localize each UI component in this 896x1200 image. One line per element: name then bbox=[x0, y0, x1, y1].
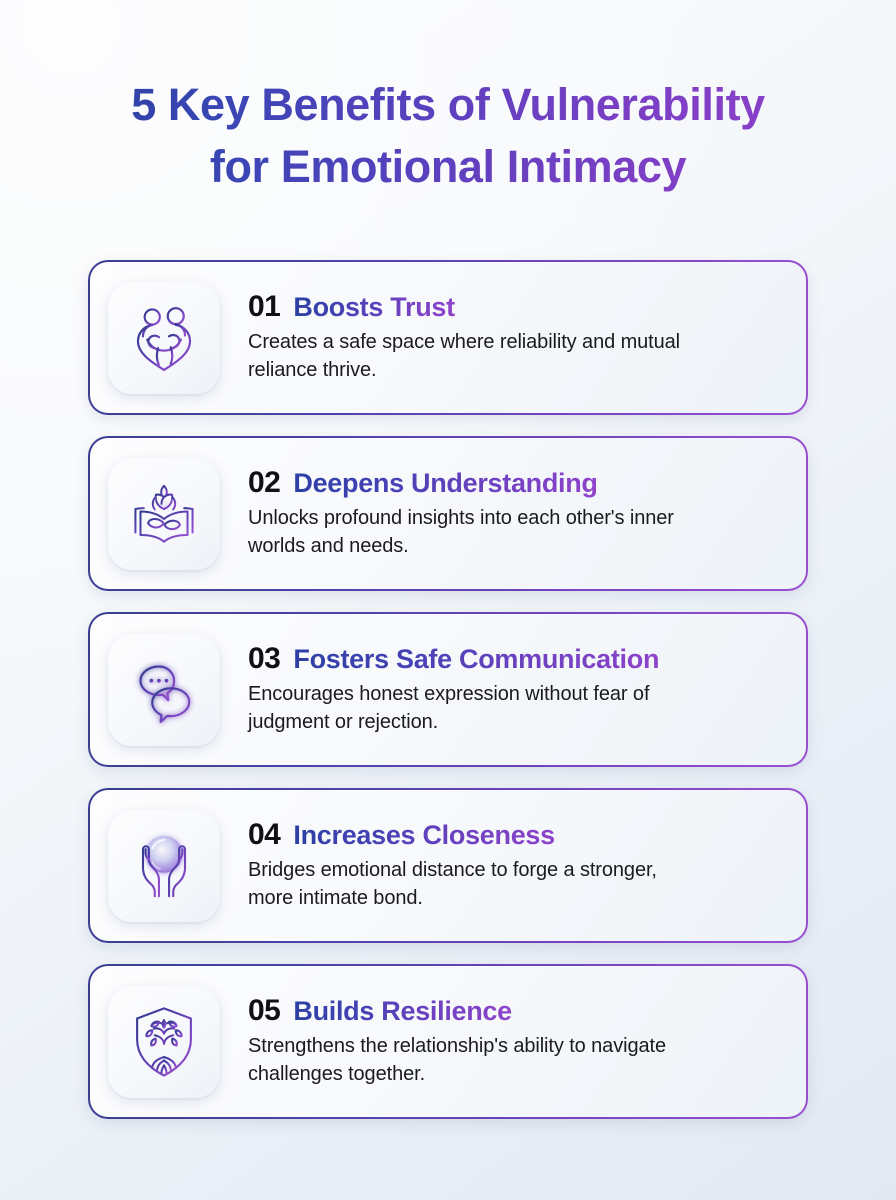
benefit-card-5-inner: 05 Builds Resilience Strengthens the rel… bbox=[90, 966, 806, 1117]
benefit-card-1[interactable]: 01 Boosts Trust Creates a safe space whe… bbox=[88, 260, 808, 415]
page-title-line-2: for Emotional Intimacy bbox=[40, 136, 856, 198]
benefit-number-4: 04 bbox=[248, 819, 280, 851]
two-people-heart-icon bbox=[122, 296, 206, 380]
benefit-card-1-inner: 01 Boosts Trust Creates a safe space whe… bbox=[90, 262, 806, 413]
benefit-card-4-inner: 04 Increases Closeness Bridges emotional… bbox=[90, 790, 806, 941]
infographic-page: 5 Key Benefits of Vulnerability for Emot… bbox=[0, 0, 896, 1200]
icon-tile-1 bbox=[108, 282, 220, 394]
benefit-title-2: Deepens Understanding bbox=[293, 468, 597, 498]
hands-holding-orb-icon bbox=[122, 824, 206, 908]
shield-tree-icon bbox=[122, 1000, 206, 1084]
benefit-card-5-text: 05 Builds Resilience Strengthens the rel… bbox=[220, 995, 806, 1088]
benefit-number-5: 05 bbox=[248, 995, 280, 1027]
benefit-card-4-text: 04 Increases Closeness Bridges emotional… bbox=[220, 819, 806, 912]
page-title-line-1: 5 Key Benefits of Vulnerability bbox=[40, 74, 856, 136]
benefit-description-3: Encourages honest expression without fea… bbox=[248, 680, 703, 736]
open-book-flower-icon bbox=[122, 472, 206, 556]
benefit-title-3: Fosters Safe Communication bbox=[293, 644, 659, 674]
benefit-card-1-text: 01 Boosts Trust Creates a safe space whe… bbox=[220, 291, 806, 384]
benefit-card-5[interactable]: 05 Builds Resilience Strengthens the rel… bbox=[88, 964, 808, 1119]
benefits-list: 01 Boosts Trust Creates a safe space whe… bbox=[88, 260, 808, 1140]
benefit-card-2-heading: 02 Deepens Understanding bbox=[248, 467, 784, 499]
benefit-card-3-text: 03 Fosters Safe Communication Encourages… bbox=[220, 643, 806, 736]
benefit-card-1-heading: 01 Boosts Trust bbox=[248, 291, 784, 323]
benefit-number-3: 03 bbox=[248, 643, 280, 675]
benefit-card-3[interactable]: 03 Fosters Safe Communication Encourages… bbox=[88, 612, 808, 767]
benefit-title-5: Builds Resilience bbox=[293, 996, 511, 1026]
benefit-description-5: Strengthens the relationship's ability t… bbox=[248, 1032, 703, 1088]
benefit-card-2-inner: 02 Deepens Understanding Unlocks profoun… bbox=[90, 438, 806, 589]
benefit-title-1: Boosts Trust bbox=[293, 292, 454, 322]
icon-tile-2 bbox=[108, 458, 220, 570]
benefit-card-4-heading: 04 Increases Closeness bbox=[248, 819, 784, 851]
page-title: 5 Key Benefits of Vulnerability for Emot… bbox=[0, 74, 896, 198]
benefit-card-2-text: 02 Deepens Understanding Unlocks profoun… bbox=[220, 467, 806, 560]
benefit-card-3-inner: 03 Fosters Safe Communication Encourages… bbox=[90, 614, 806, 765]
benefit-title-4: Increases Closeness bbox=[293, 820, 554, 850]
benefit-card-4[interactable]: 04 Increases Closeness Bridges emotional… bbox=[88, 788, 808, 943]
benefit-card-2[interactable]: 02 Deepens Understanding Unlocks profoun… bbox=[88, 436, 808, 591]
benefit-description-4: Bridges emotional distance to forge a st… bbox=[248, 856, 703, 912]
benefit-card-3-heading: 03 Fosters Safe Communication bbox=[248, 643, 784, 675]
icon-tile-5 bbox=[108, 986, 220, 1098]
speech-bubbles-icon bbox=[122, 648, 206, 732]
benefit-card-5-heading: 05 Builds Resilience bbox=[248, 995, 784, 1027]
benefit-description-1: Creates a safe space where reliability a… bbox=[248, 328, 703, 384]
benefit-number-2: 02 bbox=[248, 467, 280, 499]
benefit-number-1: 01 bbox=[248, 291, 280, 323]
benefit-description-2: Unlocks profound insights into each othe… bbox=[248, 504, 703, 560]
icon-tile-3 bbox=[108, 634, 220, 746]
icon-tile-4 bbox=[108, 810, 220, 922]
